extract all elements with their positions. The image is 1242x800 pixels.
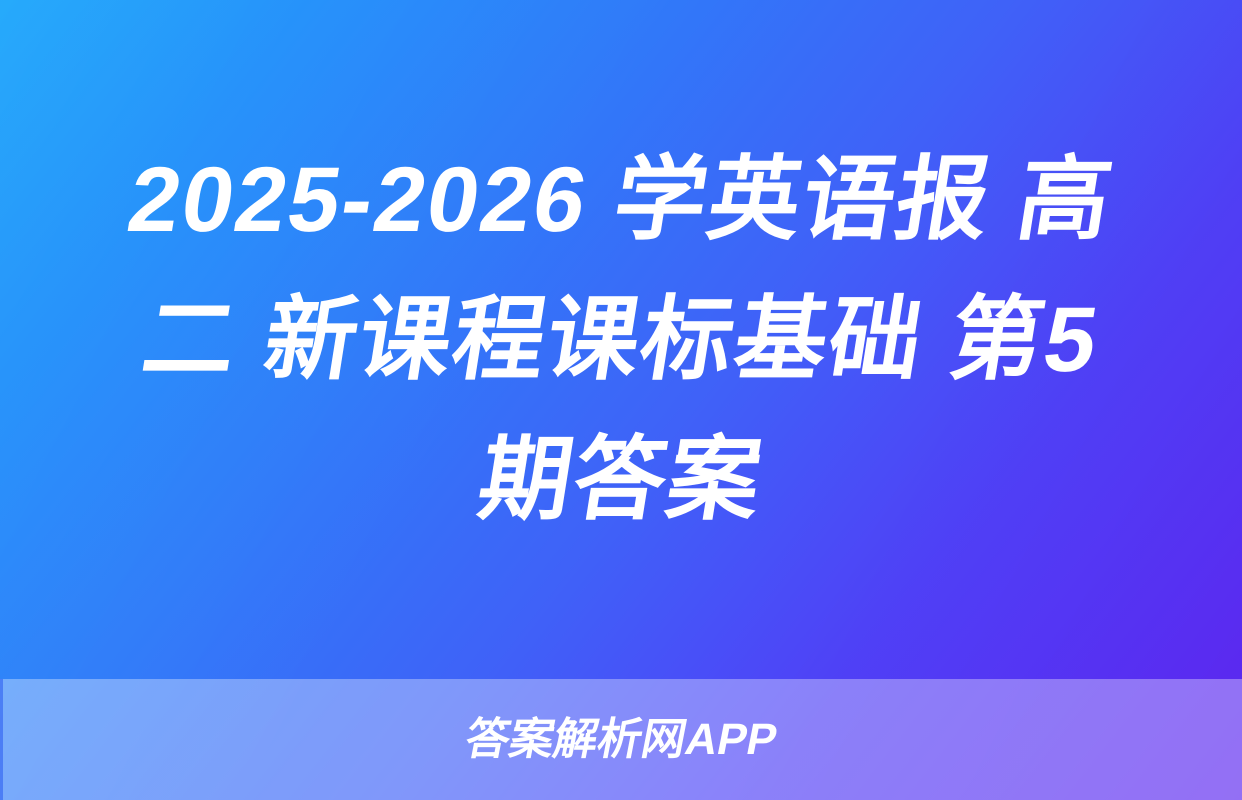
footer-watermark-text: 答案解析网APP <box>461 718 780 762</box>
page-title-line-3: 期答案 <box>51 410 1191 550</box>
footer-watermark-band: 答案解析网APP <box>0 679 1242 800</box>
poster-canvas: 2025-2026 学英语报 高 二 新课程课标基础 第5 期答案 答案解析网A… <box>0 0 1242 800</box>
title-block: 2025-2026 学英语报 高 二 新课程课标基础 第5 期答案 <box>0 0 1242 679</box>
page-title-line-1: 2025-2026 学英语报 高 <box>51 130 1191 270</box>
page-title-line-2: 二 新课程课标基础 第5 <box>51 270 1191 410</box>
